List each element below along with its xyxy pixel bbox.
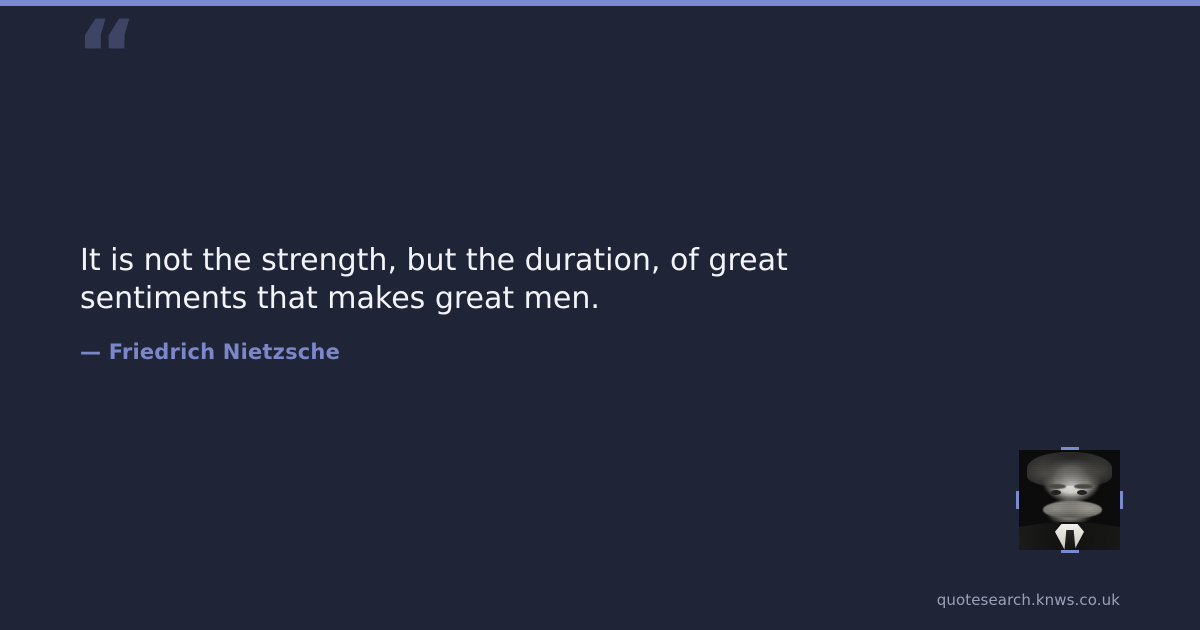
portrait-handle-bottom[interactable] [1061,550,1079,553]
quotation-mark-icon: “ [75,8,136,104]
author-portrait-container[interactable] [1019,450,1120,550]
quote-text: It is not the strength, but the duration… [80,242,880,318]
quote-author: — Friedrich Nietzsche [80,338,340,366]
source-url[interactable]: quotesearch.knws.co.uk [937,590,1120,610]
quote-card: “ It is not the strength, but the durati… [0,0,1200,630]
top-accent-bar [0,0,1200,6]
author-portrait[interactable] [1019,450,1120,550]
portrait-handle-right[interactable] [1120,491,1123,509]
portrait-handle-left[interactable] [1016,491,1019,509]
portrait-film-grain [1019,450,1120,550]
portrait-handle-top[interactable] [1061,447,1079,450]
